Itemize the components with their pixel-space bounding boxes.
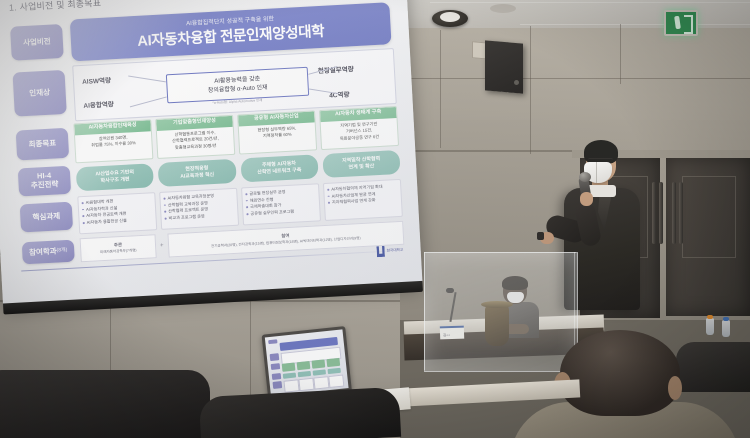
goal-body: 현장형 실무역량 65%,지역정착률 60% [239,122,316,154]
task-box: AI자동차협의체 지역기업 확대 AI자동차산업체 발굴 연계 지자체협력사업 … [323,179,403,221]
partition-edge [424,252,425,370]
laptop-slide-box [298,378,314,392]
projected-slide: 1. 사업비전 및 최종목표 1/30 사업비전 인재상 최종목표 HI-4 추… [1,0,413,299]
talent-label-aiconv: AI융합역량 [83,98,114,110]
exit-sign-icon [664,10,698,36]
strategy-pill: 현장적응형 AI교육과정 혁신 [158,159,236,187]
laptop-slide-green [312,359,326,368]
sidebar-chip-goal: 최종목표 [16,128,70,161]
wall-panel-seam [440,30,441,148]
door-handle-right[interactable] [672,182,676,244]
microphone-head-icon [579,172,591,182]
strategy-pill: AI산업수요 기반의 학사구조 개편 [76,163,154,191]
goal-card: AI자동차 생태계 구축 지역기업 및 연구기관거버넌스 15건,특화분야공동 … [319,106,399,150]
door-panel-inset [682,176,736,258]
task-box: 글로벌 현장실무 운영 해외연수 진행 국제학술대회 참가 공유형 실무인력 프… [241,183,321,225]
door-handle-right-2[interactable] [679,182,683,244]
laptop-slide-teal [283,372,296,378]
goal-body: 참여인원 340명,취업률 75%, 이수율 30% [75,131,152,163]
strategy-line-2: 학사구조 개편 [100,177,129,185]
presentation-room-photo: 1. 사업비전 및 최종목표 1/30 사업비전 인재상 최종목표 HI-4 추… [0,0,750,438]
goal-body: 지역기업 및 연구기관거버넌스 15건,특화분야공동 연구 6건 [321,117,398,149]
wall-speaker-icon [485,40,523,93]
laptop-slide-box [328,375,344,389]
wall-panel-seam [380,78,750,79]
projection-screen: 1. 사업비전 및 최종목표 1/30 사업비전 인재상 최종목표 HI-4 추… [0,0,423,320]
sidebar-chip-tasks: 핵심과제 [20,202,73,233]
logo-mark-icon [376,246,385,257]
connector-line [130,96,167,107]
speaker-led [514,80,519,85]
chip-label: 사업비전 [23,37,51,47]
ceiling-seam [520,24,750,25]
goal-card: 기업맞춤형인재양성 산학협동프로그램 이수,산학협력프로젝트 20건/년,맞춤형… [155,115,235,159]
strategy-pill: 지역밀착 산학협력 연계 및 확산 [322,150,400,178]
wall-panel-seam [620,24,621,84]
task-list: AI자동차융합 교육과정운영 산학협력 교육과정 운영 산학협력 프로젝트 운영… [163,192,234,222]
strategy-line-2: AI교육과정 혁신 [180,172,214,180]
chip-label: 인재상 [29,88,50,98]
laptop-slide-green [282,363,296,372]
ceiling-vent [490,4,516,13]
plus-icon: + [160,243,164,249]
presenter-right-hand [580,192,593,206]
strategy-pill: 주체형 AI자동차 산학연 네트워크 구축 [240,154,318,182]
strategy-line-2: 연계 및 확산 [348,163,374,170]
laptop-slide-green [297,361,311,370]
audience-hair [560,330,680,416]
task-list: AI자동차협의체 지역기업 확대 AI자동차산업체 발굴 연계 지자체협력사업 … [327,183,398,207]
strategy-line-2: 산학연 네트워크 구축 [257,167,301,175]
chip-label: 핵심과제 [32,212,60,222]
chip-label: 최종목표 [28,139,56,149]
department-main-box: 주관 미래자동차공학부(7개명) [80,234,157,262]
laptop-slide-box [313,376,329,390]
bottle-cap-orange [707,315,713,319]
wall-panel-seam [530,26,531,154]
goal-card: AI자동차융합인재육성 참여인원 340명,취업률 75%, 이수율 30% [73,119,153,163]
laptop-slide-teal [298,371,311,377]
goal-card: 공유형 AI자동차산업 현장형 실무역량 65%,지역정착률 60% [237,110,317,154]
sidebar-chip-talent: 인재상 [13,70,67,117]
laptop-slide-teal [313,369,326,375]
sidebar-chip-strategy: HI-4 추진전략 [18,166,71,197]
task-box: AI자동차융합 교육과정운영 산학협력 교육과정 운영 산학협력 프로젝트 운영… [159,188,239,230]
department-main-text: 미래자동차공학부(7개명) [97,248,140,255]
chair-front-left[interactable] [0,370,210,438]
chip-sublabel: 추진전략 [31,180,59,190]
door-handle-left-2[interactable] [659,182,663,244]
presentation-clicker[interactable] [537,232,544,240]
laptop-slide-green [326,358,340,367]
core-line-2: 창의융합형 α-Auto 인재 [208,83,268,95]
university-logo: 한국대학교 [376,244,407,259]
ceiling-seam [430,2,750,3]
laptop-slide-teal [327,368,340,374]
ceiling-speaker-dome [440,12,460,22]
laptop-slide-logo [268,339,277,344]
exit-doorframe [684,15,693,34]
chip-count: (8개) [57,248,68,254]
exit-running-figure [674,16,681,30]
goal-body: 산학협동프로그램 이수,산학협력프로젝트 20건/년,맞춤형교육과정 30명/년 [157,126,234,158]
task-list: AI융합대학 개편 AI자동차학과 신설 AI자동차 전공트랙 개편 AI자동차… [82,196,153,226]
chip-label: 참여학과 [29,247,57,257]
laptop-slide-chip [271,363,281,370]
laptop-slide-chip [273,381,283,389]
task-list: 글로벌 현장실무 운영 해외연수 진행 국제학술대회 참가 공유형 실무인력 프… [245,187,316,217]
audience-ear-right [668,376,682,400]
talent-label-4c: 4C역량 [329,89,350,100]
wall-panel-seam [250,296,251,396]
bottle-cap-blue [723,317,729,321]
logo-text: 한국대학교 [387,248,404,253]
mask-fold [596,162,597,183]
connector-line [128,75,166,82]
sidebar-chip-departments: 참여학과(8개) [22,240,75,265]
slide-page-number: 1/30 [380,0,391,1]
slide-header: 1. 사업비전 및 최종목표 [9,0,102,14]
partition-edge [424,252,576,253]
talent-label-aisw: AISW역량 [82,74,111,86]
laptop-slide-chip [270,353,280,361]
laptop-slide-chip [272,373,282,380]
laptop-screen [265,329,349,396]
sidebar-chip-vision: 사업비전 [10,24,64,61]
laptop-slide-box [283,379,299,393]
task-box: AI융합대학 개편 AI자동차학과 신설 AI자동차 전공트랙 개편 AI자동차… [77,192,157,234]
